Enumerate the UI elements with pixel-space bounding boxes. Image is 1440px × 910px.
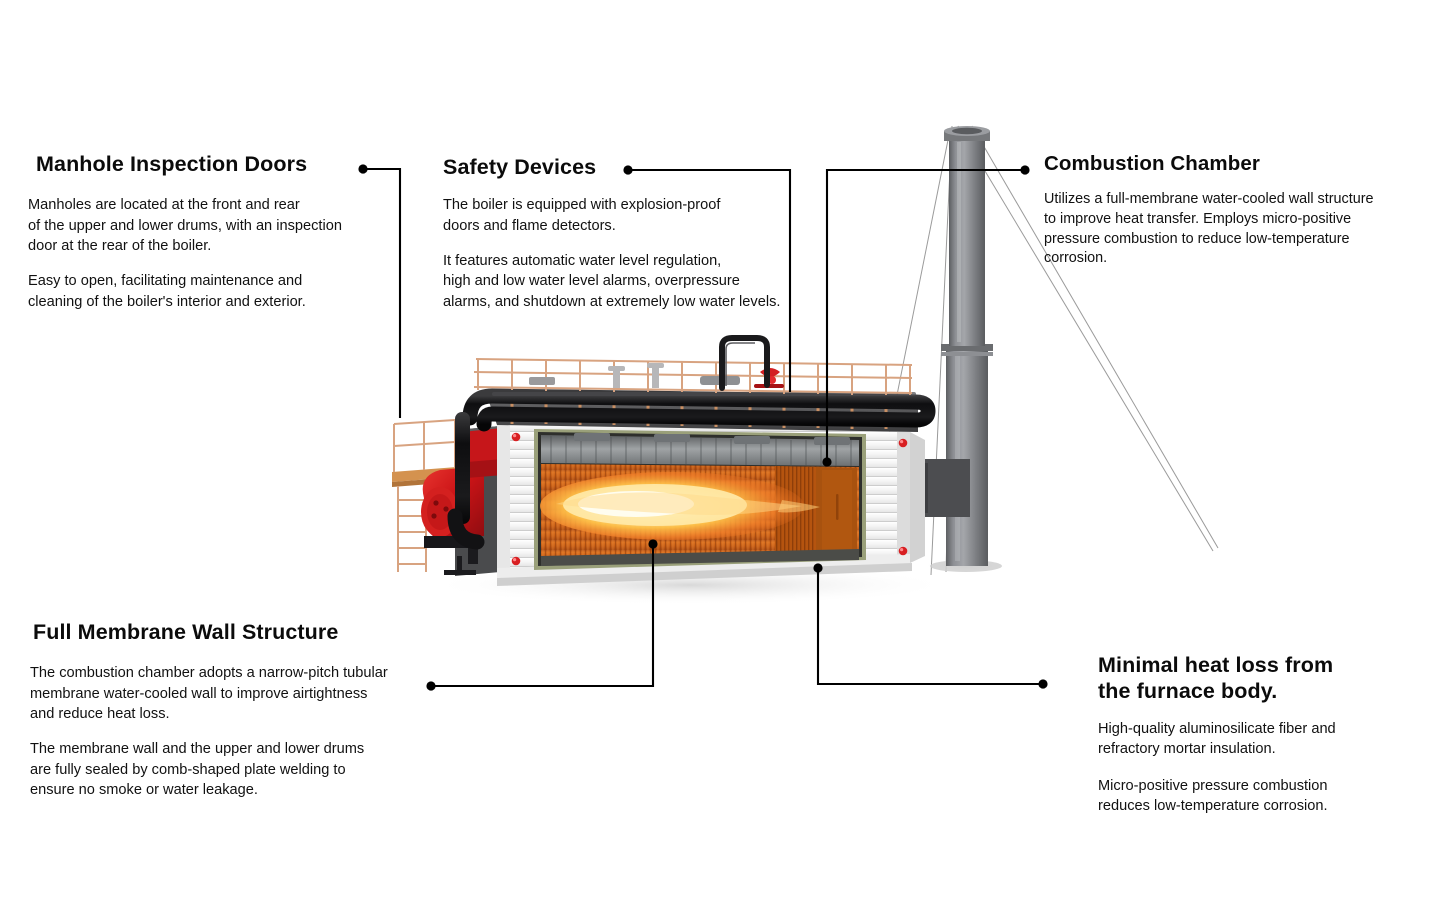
callout-title-membrane: Full Membrane Wall Structure [33,620,480,645]
callout-paragraph-membrane-2: The membrane wall and the upper and lowe… [30,739,480,801]
callout-paragraph-heatloss-1: High-quality aluminosilicate fiber and r… [1098,719,1418,760]
callout-paragraph-membrane-1: The combustion chamber adopts a narrow-p… [30,663,480,725]
callout-paragraph-manhole-2: Easy to open, facilitating maintenance a… [28,271,408,312]
callout-title-safety: Safety Devices [443,155,843,180]
callout-paragraph-safety-1: The boiler is equipped with explosion-pr… [443,195,843,236]
callout-paragraph-safety-2: It features automatic water level regula… [443,251,843,313]
callout-minimal-heat-loss: Minimal heat loss from the furnace body.… [1098,652,1418,831]
callout-full-membrane-wall-structure: Full Membrane Wall Structure The combust… [30,620,480,815]
combustion-chamber-cutaway [534,429,866,570]
callout-paragraph-manhole-1: Manholes are located at the front and re… [28,195,408,257]
callout-title-combustion: Combustion Chamber [1044,152,1429,176]
callout-title-heatloss: Minimal heat loss from the furnace body. [1098,652,1418,704]
callout-manhole-inspection-doors: Manhole Inspection Doors Manholes are lo… [28,152,408,327]
callout-title-manhole: Manhole Inspection Doors [36,152,408,177]
diagram-canvas: Manhole Inspection Doors Manholes are lo… [0,0,1440,910]
callout-paragraph-heatloss-2: Micro-positive pressure combustion reduc… [1098,776,1418,817]
callout-safety-devices: Safety Devices The boiler is equipped wi… [443,155,843,327]
callout-combustion-chamber: Combustion Chamber Utilizes a full-membr… [1044,152,1429,283]
callout-paragraph-combustion-1: Utilizes a full-membrane water-cooled wa… [1044,190,1429,268]
